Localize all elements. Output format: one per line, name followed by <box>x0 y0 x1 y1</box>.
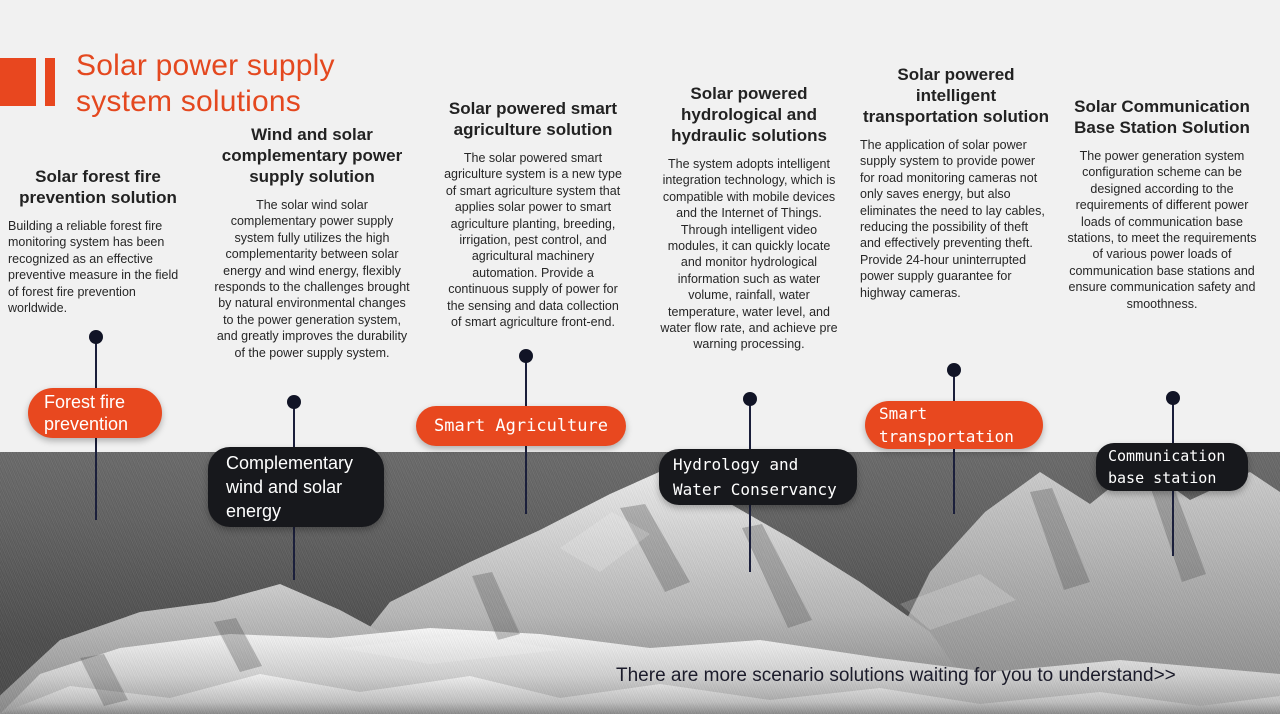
column-body-base-station: The power generation system configuratio… <box>1064 148 1260 312</box>
solution-column-forest-fire: Solar forest fire prevention solution Bu… <box>8 166 188 316</box>
footer-caption[interactable]: There are more scenario solutions waitin… <box>616 664 1176 688</box>
pill-label-hydrological: Hydrology and Water Conservancy <box>673 452 843 502</box>
page-title: Solar power supply system solutions <box>76 48 496 120</box>
pill-label-smart-agriculture: Smart Agriculture <box>432 416 610 436</box>
solution-column-hydrological: Solar powered hydrological and hydraulic… <box>658 83 840 353</box>
pill-label-base-station: Communication base station <box>1108 445 1236 489</box>
column-body-smart-agriculture: The solar powered smart agriculture syst… <box>442 150 624 330</box>
connector-dot-smart-agriculture <box>519 349 533 363</box>
solution-column-base-station: Solar Communication Base Station Solutio… <box>1064 96 1260 312</box>
pill-label-wind-solar: Complementary wind and solar energy <box>226 451 366 523</box>
pill-complementary-wind-and-solar-energy[interactable]: Complementary wind and solar energy <box>208 447 384 527</box>
pill-smart-transportation[interactable]: Smart transportation <box>865 401 1043 449</box>
column-body-hydrological: The system adopts intelligent integratio… <box>658 156 840 353</box>
accent-bar <box>45 58 55 106</box>
column-body-wind-solar: The solar wind solar complementary power… <box>212 197 412 361</box>
connector-dot-base-station <box>1166 391 1180 405</box>
connector-dot-transportation <box>947 363 961 377</box>
connector-dot-forest-fire <box>89 330 103 344</box>
column-body-transportation: The application of solar power supply sy… <box>860 137 1052 301</box>
pill-label-transportation: Smart transportation <box>879 402 1029 448</box>
solution-column-wind-solar: Wind and solar complementary power suppl… <box>212 124 412 361</box>
solution-column-transportation: Solar powered intelligent transportation… <box>860 64 1052 301</box>
connector-dot-wind-solar <box>287 395 301 409</box>
column-heading-smart-agriculture: Solar powered smart agriculture solution <box>442 98 624 140</box>
solution-column-smart-agriculture: Solar powered smart agriculture solution… <box>442 98 624 330</box>
column-heading-transportation: Solar powered intelligent transportation… <box>860 64 1052 127</box>
column-heading-wind-solar: Wind and solar complementary power suppl… <box>212 124 412 187</box>
pill-hydrology-and-water-conservancy[interactable]: Hydrology and Water Conservancy <box>659 449 857 505</box>
column-heading-base-station: Solar Communication Base Station Solutio… <box>1064 96 1260 138</box>
accent-block <box>0 58 36 106</box>
pill-smart-agriculture[interactable]: Smart Agriculture <box>416 406 626 446</box>
slide-canvas: Solar power supply system solutions Sola… <box>0 0 1280 714</box>
column-heading-hydrological: Solar powered hydrological and hydraulic… <box>658 83 840 146</box>
column-body-forest-fire: Building a reliable forest fire monitori… <box>8 218 188 316</box>
pill-communication-base-station[interactable]: Communication base station <box>1096 443 1248 491</box>
connector-dot-hydrological <box>743 392 757 406</box>
pill-label-forest-fire: Forest fire prevention <box>44 391 146 435</box>
pill-forest-fire-prevention[interactable]: Forest fire prevention <box>28 388 162 438</box>
column-heading-forest-fire: Solar forest fire prevention solution <box>8 166 188 208</box>
